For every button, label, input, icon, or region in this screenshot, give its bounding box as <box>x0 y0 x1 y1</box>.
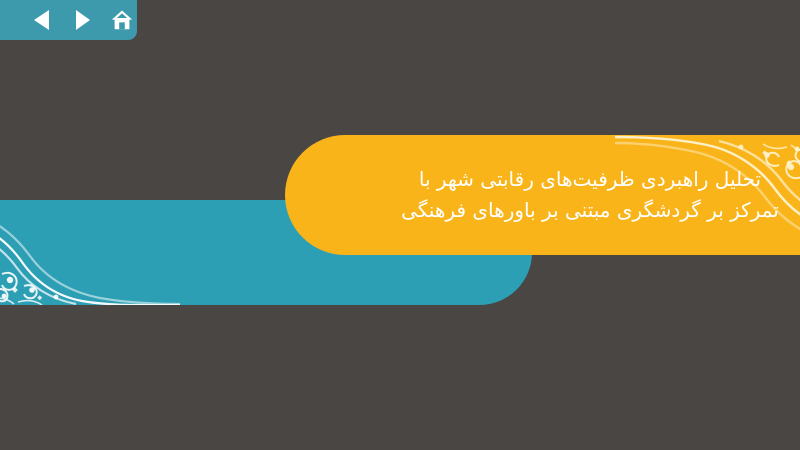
previous-slide-button[interactable] <box>29 7 55 33</box>
slide-title: تحلیل راهبردی ظرفیت‌های رقابتی شهر با تم… <box>285 164 800 226</box>
title-line-1: تحلیل راهبردی ظرفیت‌های رقابتی شهر با <box>375 164 800 195</box>
slide-navigation-bar <box>0 0 137 40</box>
triangle-left-icon <box>32 9 52 31</box>
triangle-right-icon <box>72 9 92 31</box>
home-slide-button[interactable] <box>109 7 135 33</box>
title-line-2: تمرکز بر گردشگری مبتنی بر باورهای فرهنگی <box>375 195 800 226</box>
presentation-slide: تحلیل راهبردی ظرفیت‌های رقابتی شهر با تم… <box>0 0 800 450</box>
arabesque-corner-ornament <box>0 200 180 305</box>
title-banner: تحلیل راهبردی ظرفیت‌های رقابتی شهر با تم… <box>285 135 800 255</box>
next-slide-button[interactable] <box>69 7 95 33</box>
home-icon <box>110 8 134 32</box>
